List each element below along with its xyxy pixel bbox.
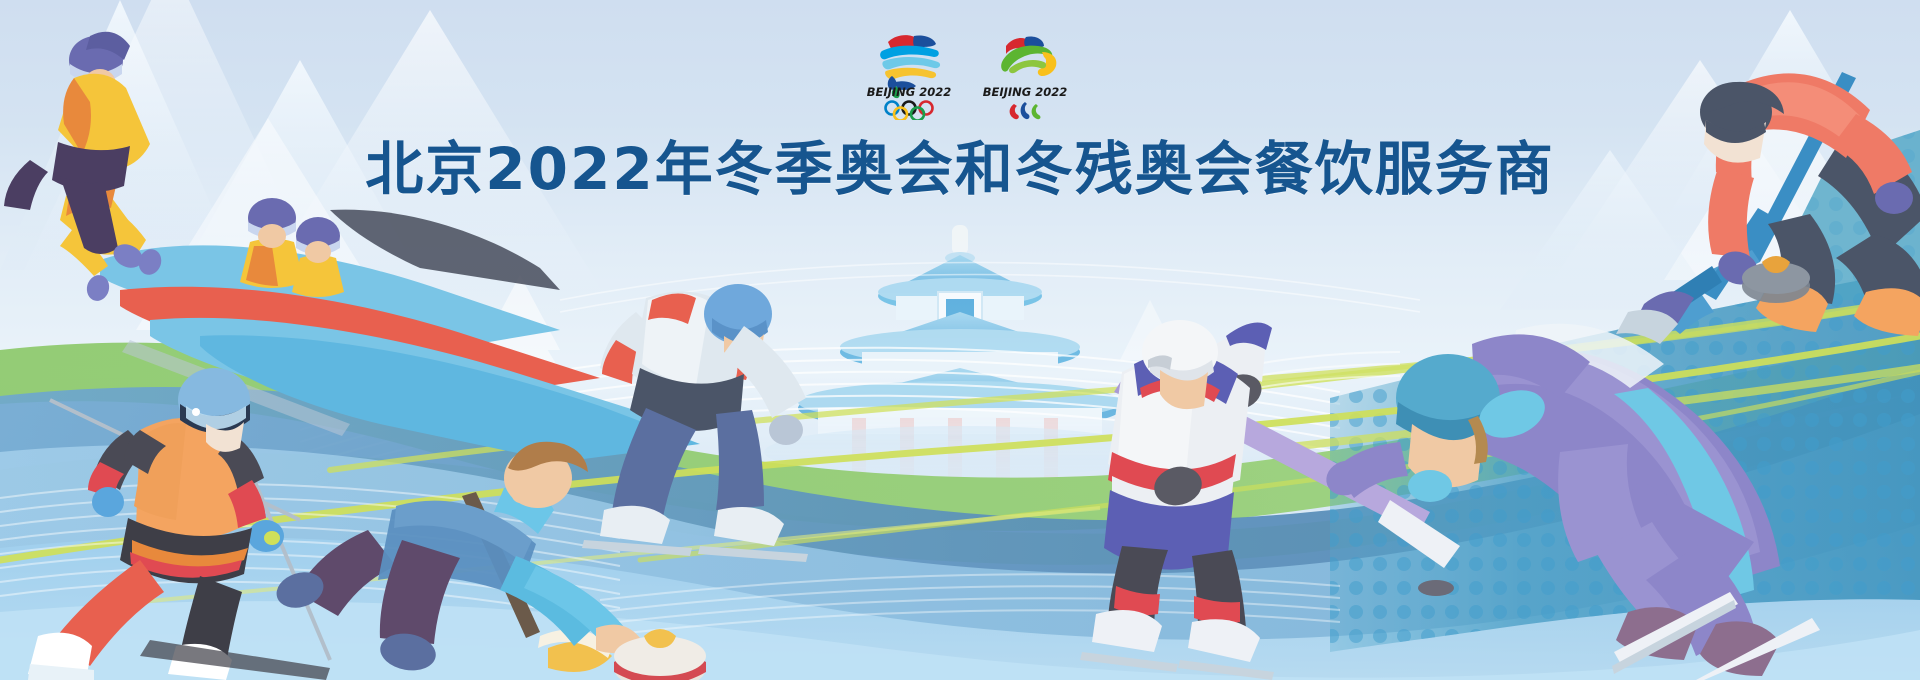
- olympic-wordmark: BEIJING 2022: [867, 85, 952, 99]
- olympic-sponsor-banner: BEIJING 2022: [0, 0, 1920, 680]
- paralympic-emblem-svg: BEIJING 2022: [978, 24, 1072, 120]
- beijing-2022-paralympic-emblem: BEIJING 2022: [978, 24, 1072, 120]
- paralympic-wordmark: BEIJING 2022: [983, 85, 1068, 99]
- agitos-icon: [1010, 102, 1041, 119]
- olympic-rings-icon: [886, 102, 933, 121]
- flying-fei-ribbon-icon: [1001, 37, 1056, 76]
- beijing-2022-olympic-emblem: BEIJING 2022: [862, 24, 956, 120]
- olympic-emblem-svg: BEIJING 2022: [862, 24, 956, 120]
- emblem-group: BEIJING 2022: [862, 24, 1072, 120]
- page-title: 北京2022年冬季奥会和冬残奥会餐饮服务商: [0, 122, 1920, 206]
